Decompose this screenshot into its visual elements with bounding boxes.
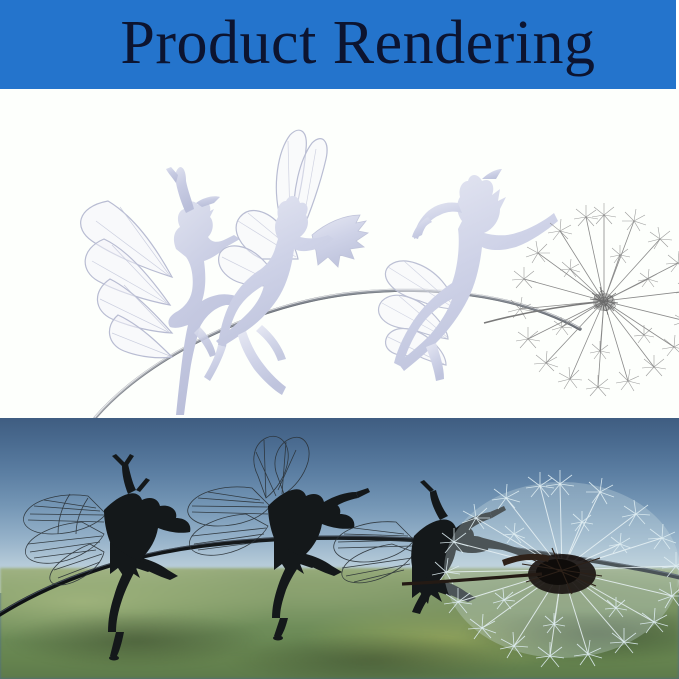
- fairy-silhouette-right: [379, 169, 558, 381]
- product-rendering-line-art: [0, 89, 679, 418]
- header-banner: Product Rendering: [0, 0, 679, 89]
- dandelion-seed-head: [484, 203, 679, 396]
- product-listing-image: Product Rendering: [0, 0, 679, 679]
- photo-sculptures: [0, 418, 679, 679]
- fairy-silhouette-left: [81, 167, 240, 415]
- metal-fairy-left: [24, 454, 191, 661]
- fairy-silhouette-middle: [204, 130, 368, 395]
- page-title: Product Rendering: [80, 12, 595, 78]
- product-photo-outdoors: [0, 418, 679, 679]
- rendering-artwork: [0, 89, 679, 418]
